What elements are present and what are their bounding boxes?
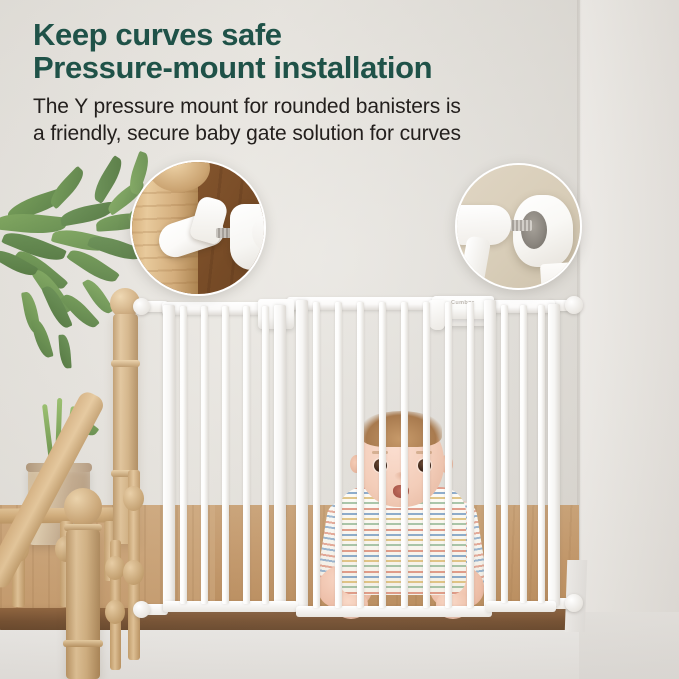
subheadline-line-2: a friendly, secure baby gate solution fo… — [33, 120, 593, 147]
inset-photo-right — [455, 163, 582, 290]
subheadline-line-1: The Y pressure mount for rounded baniste… — [33, 93, 593, 120]
gate-bar — [335, 302, 342, 608]
gate-bar — [445, 302, 452, 608]
inset-photo-left — [130, 160, 266, 296]
gate-bar — [313, 302, 320, 608]
gate-bar — [401, 302, 408, 608]
header-text-block: Keep curves safe Pressure-mount installa… — [33, 18, 593, 147]
gate-bar — [180, 306, 187, 604]
headline-line-1: Keep curves safe — [33, 18, 593, 51]
gate-bar — [201, 306, 208, 604]
gate-bar — [423, 302, 430, 608]
gate-latch-knob[interactable] — [428, 300, 445, 330]
headline-line-2: Pressure-mount installation — [33, 51, 593, 84]
product-marketing-image: Cumbor — [0, 0, 679, 679]
gate-bar — [222, 306, 229, 604]
gate-bar — [379, 302, 386, 608]
gate-bar — [467, 302, 474, 608]
gate-bar — [520, 305, 527, 603]
inset-right-gate-edge — [540, 262, 582, 290]
gate-bar — [262, 306, 269, 604]
gate-bar — [501, 305, 508, 603]
gate-bar — [357, 302, 364, 608]
gate-bar — [243, 306, 250, 604]
gate-bar — [538, 305, 545, 603]
